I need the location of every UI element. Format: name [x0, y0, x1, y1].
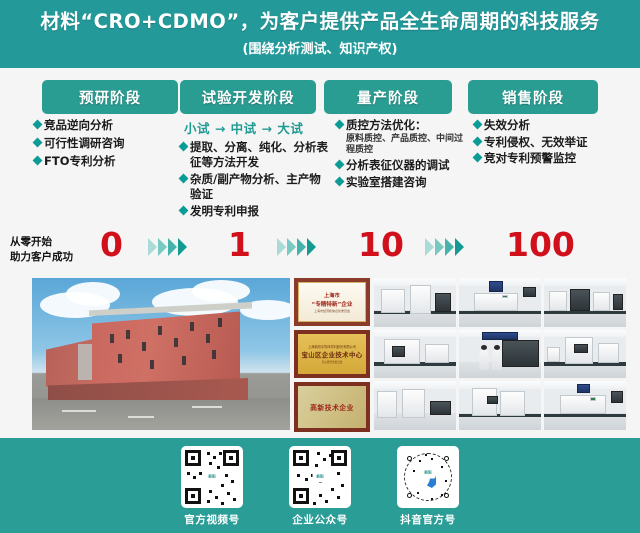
qr-label-video: 官方视频号 [184, 512, 240, 527]
list-item-label: 实验室搭建咨询 [346, 175, 470, 190]
progression-arrow-2 [277, 238, 316, 256]
diamond-bullet-icon [33, 156, 43, 166]
list-item: 实验室搭建咨询 [336, 175, 470, 190]
stage-column-3: 质控方法优化： 原料质控、产品质控、中间过程质控 分析表征仪器的调试 实验室搭建… [336, 118, 470, 192]
list-item: 发明专利申报 [180, 204, 330, 219]
list-item-label: 失效分析 [484, 118, 634, 133]
qr-logo: 新阳 [313, 472, 328, 483]
slide-root: 材料“CRO+CDMO”，为客户提供产品全生命周期的科技服务 (围绕分析测试、知… [0, 0, 640, 533]
lab-photo [544, 278, 626, 327]
chevron-right-icon [287, 238, 296, 256]
stage-detail-columns: 竞品逆向分析 可行性调研咨询 FTO专利分析 小试 → 中试 → 大试 提取、分… [0, 118, 640, 230]
diamond-bullet-icon [335, 160, 345, 170]
lab-photo [544, 330, 626, 379]
qr-pattern: 新阳 [185, 450, 239, 504]
lab-photo [459, 278, 541, 327]
cloud-shape [66, 282, 120, 306]
diamond-bullet-icon [33, 120, 43, 130]
diamond-bullet-icon [179, 173, 189, 183]
progression-row: 从零开始 助力客户成功 0 1 10 100 [0, 231, 640, 275]
stage-box-2[interactable]: 试验开发阶段 [180, 80, 316, 114]
list-item: 杂质/副产物分析、主产物验证 [180, 172, 330, 202]
progression-label-line1: 从零开始 [10, 235, 88, 250]
footer-banner: 新阳 官方视频号 [0, 438, 640, 533]
chevron-right-icon [158, 238, 167, 256]
stage-box-3[interactable]: 量产阶段 [324, 80, 452, 114]
chevron-right-icon [425, 238, 434, 256]
certificate-line1: 上海新阳半导体材料股份有限公司 [308, 344, 356, 349]
lab-photo [374, 278, 456, 327]
list-item: 竞品逆向分析 [34, 118, 180, 133]
diamond-bullet-icon [179, 205, 189, 215]
chevron-right-icon [168, 238, 177, 256]
page-title: 材料“CRO+CDMO”，为客户提供产品全生命周期的科技服务 [40, 11, 599, 32]
chevron-right-icon [307, 238, 316, 256]
qr-item-wechat[interactable]: 新阳 企业公众号 [289, 446, 351, 527]
qr-label-douyin: 抖音官方号 [400, 512, 456, 527]
header-banner: 材料“CRO+CDMO”，为客户提供产品全生命周期的科技服务 (围绕分析测试、知… [0, 0, 640, 68]
road-surface [32, 398, 290, 430]
list-item-label: 质控方法优化： 原料质控、产品质控、中间过程质控 [346, 118, 470, 157]
lab-photo [374, 330, 456, 379]
qr-code-video[interactable]: 新阳 [181, 446, 243, 508]
stage-header-row: 预研阶段 试验开发阶段 量产阶段 销售阶段 [0, 80, 640, 114]
list-item-subtext: 原料质控、产品质控、中间过程质控 [346, 134, 470, 157]
list-item: 分析表征仪器的调试 [336, 158, 470, 173]
company-building-photo [32, 278, 290, 430]
progression-label: 从零开始 助力客户成功 [10, 235, 88, 265]
certificate-plaque-2: 上海新阳半导体材料股份有限公司 宝山区企业技术中心 宝山区经济委员会 [294, 330, 370, 378]
qr-code-douyin[interactable]: 新阳 [397, 446, 459, 508]
qr-pattern: 新阳 [293, 450, 347, 504]
list-item-label: 分析表征仪器的调试 [346, 158, 470, 173]
stage-column-2: 小试 → 中试 → 大试 提取、分离、纯化、分析表征等方法开发 杂质/副产物分析… [180, 118, 330, 220]
progression-label-line2: 助力客户成功 [10, 250, 88, 265]
lab-photo-grid [374, 278, 626, 430]
chevron-right-icon [277, 238, 286, 256]
list-item-title: 质控方法优化： [346, 118, 427, 132]
list-item-label: 杂质/副产物分析、主产物验证 [190, 172, 330, 202]
list-item-label: 竞品逆向分析 [44, 118, 180, 133]
certificate-plaque-3: 高新技术企业 [294, 382, 370, 432]
stage-box-1[interactable]: 预研阶段 [42, 80, 178, 114]
lab-photo [374, 381, 456, 430]
progression-number-10: 10 [358, 228, 404, 261]
lab-photo [544, 381, 626, 430]
list-item: FTO专利分析 [34, 154, 180, 169]
technician-figure [479, 349, 490, 369]
chevron-right-icon [178, 238, 187, 256]
diamond-bullet-icon [473, 153, 483, 163]
list-item-label: 发明专利申报 [190, 204, 330, 219]
list-item-label: 可行性调研咨询 [44, 136, 180, 151]
stage-column-1: 竞品逆向分析 可行性调研咨询 FTO专利分析 [34, 118, 180, 173]
list-item: 提取、分离、纯化、分析表征等方法开发 [180, 140, 330, 170]
stage-column-4: 失效分析 专利侵权、无效举证 竞对专利预警监控 [474, 118, 634, 168]
qr-logo: 新阳 [421, 467, 436, 478]
road-marking [192, 406, 222, 408]
list-item-label: 专利侵权、无效举证 [484, 135, 634, 150]
lab-photo-with-technicians [459, 330, 541, 379]
certificate-line1: 上海市 [324, 292, 340, 299]
diamond-bullet-icon [473, 120, 483, 130]
qr-item-douyin[interactable]: 新阳 抖音官方号 [397, 446, 459, 527]
list-item-label: 提取、分离、纯化、分析表征等方法开发 [190, 140, 330, 170]
progression-number-100: 100 [506, 228, 575, 261]
certificate-line2: “专精特新”企业 [312, 300, 353, 308]
list-item: 专利侵权、无效举证 [474, 135, 634, 150]
list-item: 可行性调研咨询 [34, 136, 180, 151]
list-item: 竞对专利预警监控 [474, 151, 634, 166]
diamond-bullet-icon [335, 176, 345, 186]
road-marking [62, 410, 96, 412]
qr-logo: 新阳 [205, 472, 220, 483]
list-item: 失效分析 [474, 118, 634, 133]
list-item: 质控方法优化： 原料质控、产品质控、中间过程质控 [336, 118, 470, 157]
progression-arrow-1 [148, 238, 187, 256]
certificate-plaque-1: 上海市 “专精特新”企业 上海市经济和信息化委员会 [294, 278, 370, 326]
chevron-right-icon [445, 238, 454, 256]
qr-label-wechat: 企业公众号 [292, 512, 348, 527]
technician-figure [492, 349, 503, 369]
list-item-label: 竞对专利预警监控 [484, 151, 634, 166]
chevron-right-icon [435, 238, 444, 256]
qr-item-video[interactable]: 新阳 官方视频号 [181, 446, 243, 527]
certificate-line3: 宝山区经济委员会 [322, 360, 343, 364]
chevron-right-icon [148, 238, 157, 256]
qr-pattern-circular: 新阳 [401, 450, 455, 504]
certificate-line1: 高新技术企业 [310, 402, 354, 412]
certificate-line2: 宝山区企业技术中心 [301, 350, 362, 359]
certificate-line3: 上海市经济和信息化委员会 [314, 309, 350, 313]
chevron-right-icon [455, 238, 464, 256]
chevron-right-icon [297, 238, 306, 256]
lab-photo [459, 381, 541, 430]
qr-code-wechat[interactable]: 新阳 [289, 446, 351, 508]
column-2-subtitle: 小试 → 中试 → 大试 [180, 118, 330, 137]
progression-number-0: 0 [100, 228, 123, 261]
diamond-bullet-icon [33, 138, 43, 148]
stage-box-4[interactable]: 销售阶段 [468, 80, 598, 114]
cloud-shape [192, 280, 250, 302]
progression-arrow-3 [425, 238, 464, 256]
list-item-label: FTO专利分析 [44, 154, 180, 169]
certificate-stack: 上海市 “专精特新”企业 上海市经济和信息化委员会 上海新阳半导体材料股份有限公… [294, 276, 370, 432]
diamond-bullet-icon [473, 136, 483, 146]
qr-code-row: 新阳 官方视频号 [0, 446, 640, 527]
media-gallery: 上海市 “专精特新”企业 上海市经济和信息化委员会 上海新阳半导体材料股份有限公… [0, 276, 640, 436]
diamond-bullet-icon [179, 142, 189, 152]
diamond-bullet-icon [335, 120, 345, 130]
page-subtitle: (围绕分析测试、知识产权) [243, 38, 398, 57]
progression-number-1: 1 [228, 228, 251, 261]
road-marking [128, 416, 154, 418]
